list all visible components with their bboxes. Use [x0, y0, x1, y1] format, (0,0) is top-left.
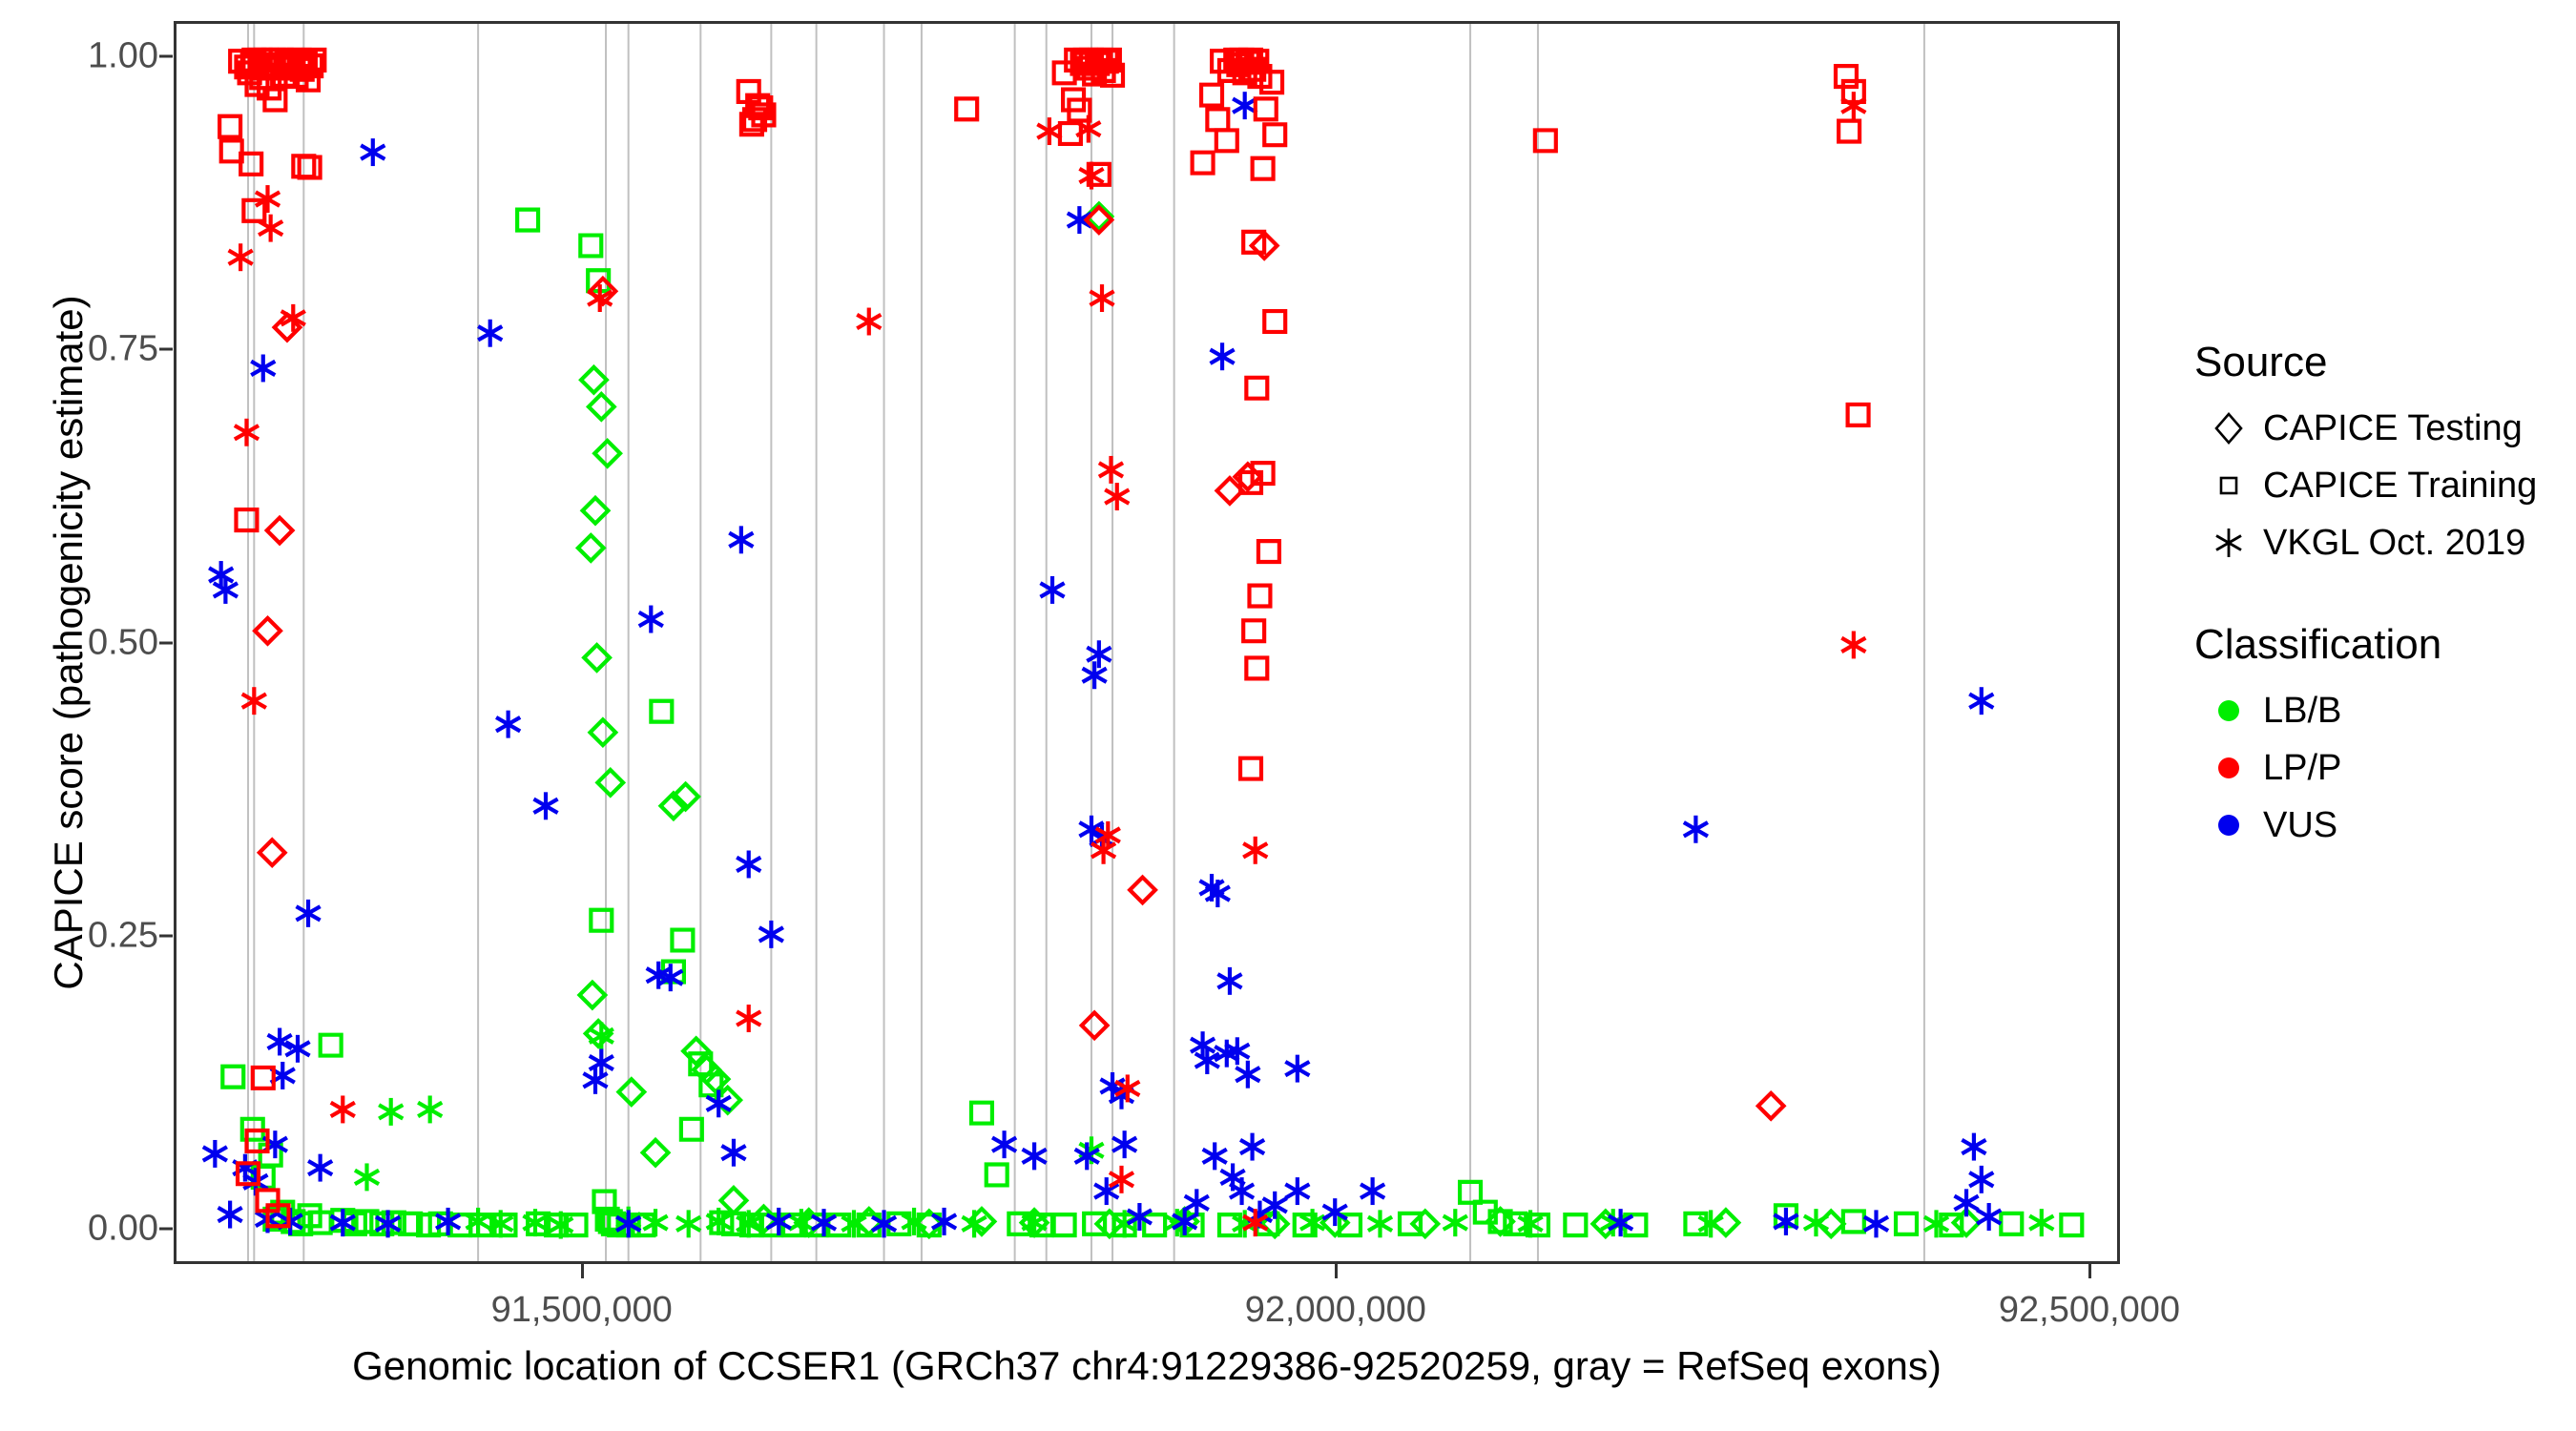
legend-title-classification: Classification — [2194, 621, 2547, 669]
circle-icon-lbb — [2194, 682, 2263, 739]
y-tick-label: 0.25 — [0, 915, 158, 956]
square-outline-icon — [2194, 457, 2263, 514]
y-tick-mark — [159, 934, 173, 937]
legend-item-capice-testing[interactable]: CAPICE Testing — [2194, 400, 2547, 457]
y-tick-label: 0.00 — [0, 1209, 158, 1250]
x-tick-mark — [581, 1264, 584, 1278]
legend-item-vus[interactable]: VUS — [2194, 797, 2547, 854]
legend-label-capice-testing: CAPICE Testing — [2263, 408, 2523, 449]
y-tick-mark — [159, 348, 173, 351]
diamond-outline-icon — [2194, 400, 2263, 457]
y-tick-label: 0.75 — [0, 329, 158, 370]
legend-label-capice-training: CAPICE Training — [2263, 466, 2537, 507]
legend-item-lbb[interactable]: LB/B — [2194, 682, 2547, 739]
x-tick-label: 91,500,000 — [439, 1290, 725, 1331]
y-tick-mark — [159, 1228, 173, 1231]
circle-icon-vus — [2194, 797, 2263, 854]
chart-root: CAPICE score (pathogenicity estimate) 0.… — [0, 0, 2576, 1431]
legend-label-lpp: LP/P — [2263, 748, 2341, 789]
legend-title-source: Source — [2194, 339, 2547, 386]
asterisk-icon — [2194, 514, 2263, 571]
circle-icon-lpp — [2194, 739, 2263, 797]
x-axis-title: Genomic location of CCSER1 (GRCh37 chr4:… — [174, 1343, 2120, 1389]
legend-group-source: Source CAPICE Testing CAPICE Training — [2194, 339, 2547, 571]
plot-panel — [174, 21, 2120, 1264]
legend-label-vus: VUS — [2263, 805, 2337, 846]
x-tick-mark — [1335, 1264, 1338, 1278]
x-tick-mark — [2088, 1264, 2091, 1278]
legend-item-vkgl[interactable]: VKGL Oct. 2019 — [2194, 514, 2547, 571]
x-tick-label: 92,000,000 — [1193, 1290, 1479, 1331]
legend-group-classification: Classification LB/B LP/P VUS — [2194, 621, 2547, 854]
series-lp-p-capice-training — [219, 50, 1868, 1226]
legend: Source CAPICE Testing CAPICE Training — [2194, 339, 2547, 903]
x-tick-label: 92,500,000 — [1946, 1290, 2233, 1331]
legend-item-capice-training[interactable]: CAPICE Training — [2194, 457, 2547, 514]
y-tick-mark — [159, 641, 173, 644]
plot-canvas — [177, 24, 2117, 1261]
series-vus-vkgl-oct-2019 — [203, 92, 2001, 1237]
series-lp-p-capice-testing — [255, 207, 1783, 1118]
series-lb-b-capice-testing — [578, 204, 1980, 1237]
y-tick-mark — [159, 54, 173, 57]
legend-item-lpp[interactable]: LP/P — [2194, 739, 2547, 797]
y-tick-label: 0.50 — [0, 622, 158, 663]
exon-lines — [248, 24, 1924, 1261]
legend-label-vkgl: VKGL Oct. 2019 — [2263, 523, 2525, 564]
legend-label-lbb: LB/B — [2263, 691, 2341, 732]
y-tick-label: 1.00 — [0, 35, 158, 76]
